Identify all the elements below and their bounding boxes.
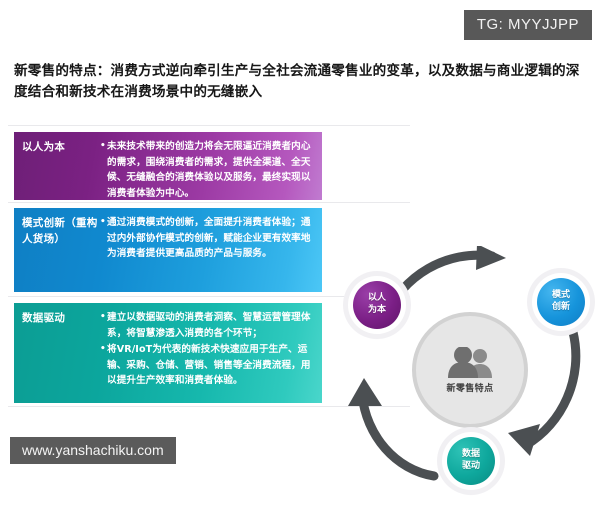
diagram-node-disc: 数据 驱动: [447, 437, 495, 485]
diagram-node-label-line1: 模式: [552, 290, 570, 302]
content-stage: 以人为本 未来技术带来的创造力将会无限逼近消费者内心的需求，围绕消费者的需求，提…: [0, 118, 600, 418]
diagram-hub: 新零售特点: [412, 312, 528, 428]
divider-top: [8, 125, 410, 126]
page-title: 新零售的特点：消费方式逆向牵引生产与全社会流通零售业的变革，以及数据与商业逻辑的…: [14, 61, 586, 103]
feature-card-body: 建立以数据驱动的消费者洞察、智慧运营管理体系，将智慧渗透入消费的各个环节； 将V…: [100, 310, 316, 389]
diagram-node-label-line2: 创新: [552, 302, 570, 314]
feature-card-people-first[interactable]: 以人为本 未来技术带来的创造力将会无限逼近消费者内心的需求，围绕消费者的需求，提…: [14, 132, 322, 200]
telegram-watermark-badge: TG: MYYJJPP: [464, 10, 592, 40]
diagram-node-disc: 模式 创新: [537, 278, 585, 326]
feature-card-body: 通过消费模式的创新，全面提升消费者体验；通过内外部协作模式的创新，赋能企业更有效…: [100, 215, 316, 262]
feature-card-title: 以人为本: [22, 139, 100, 156]
feature-bullet: 建立以数据驱动的消费者洞察、智慧运营管理体系，将智慧渗透入消费的各个环节；: [100, 310, 316, 341]
arrow-arc-left: [362, 394, 434, 476]
feature-bullet: 未来技术带来的创造力将会无限逼近消费者内心的需求，围绕消费者的需求，提供全渠道、…: [100, 139, 316, 201]
diagram-node-people-first[interactable]: 以人 为本: [348, 276, 406, 334]
feature-card-body: 未来技术带来的创造力将会无限逼近消费者内心的需求，围绕消费者的需求，提供全渠道、…: [100, 139, 316, 201]
diagram-node-model-innovation[interactable]: 模式 创新: [532, 273, 590, 331]
feature-bullet: 将VR/IoT为代表的新技术快速应用于生产、运输、采购、仓储、营销、销售等全消费…: [100, 342, 316, 389]
feature-card-model-innovation[interactable]: 模式创新（重构人货场） 通过消费模式的创新，全面提升消费者体验；通过内外部协作模…: [14, 208, 322, 292]
diagram-node-label-line2: 驱动: [462, 461, 480, 473]
people-icon: [447, 347, 493, 379]
feature-card-title: 模式创新（重构人货场）: [22, 215, 100, 248]
site-watermark-badge: www.yanshachiku.com: [10, 437, 176, 464]
arrow-head-top: [476, 246, 506, 270]
arrow-head-left: [348, 378, 382, 406]
diagram-node-label-line1: 数据: [462, 449, 480, 461]
diagram-node-disc: 以人 为本: [353, 281, 401, 329]
cycle-diagram: 新零售特点 以人 为本 模式 创新 数据 驱动: [340, 246, 596, 508]
feature-card-title: 数据驱动: [22, 310, 100, 327]
divider-1: [8, 202, 410, 203]
diagram-node-label-line1: 以人: [368, 293, 386, 305]
feature-bullet: 通过消费模式的创新，全面提升消费者体验；通过内外部协作模式的创新，赋能企业更有效…: [100, 215, 316, 262]
diagram-hub-label: 新零售特点: [446, 381, 493, 394]
feature-card-data-driven[interactable]: 数据驱动 建立以数据驱动的消费者洞察、智慧运营管理体系，将智慧渗透入消费的各个环…: [14, 303, 322, 403]
diagram-node-label-line2: 为本: [368, 305, 386, 317]
diagram-node-data-driven[interactable]: 数据 驱动: [442, 432, 500, 490]
